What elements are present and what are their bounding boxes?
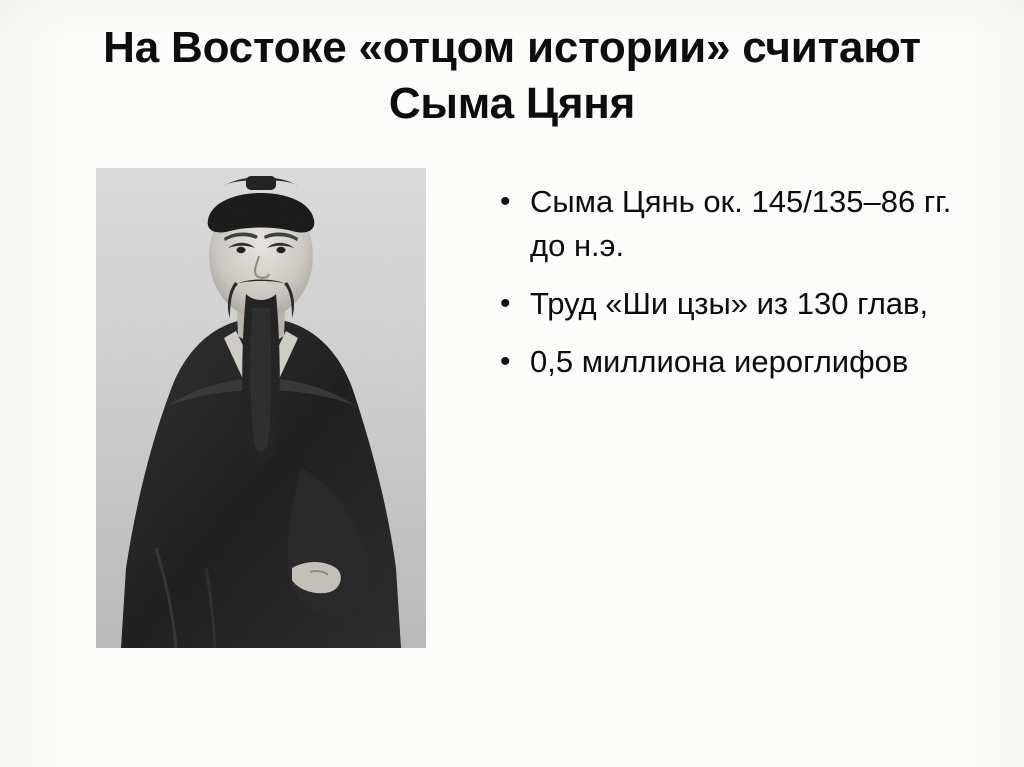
portrait-image: [96, 168, 426, 648]
bullet-text: Сыма Цянь ок. 145/135–86 гг. до н.э.: [530, 180, 980, 268]
slide-canvas: На Востоке «отцом истории» считают Сыма …: [0, 0, 1024, 767]
bullet-dot-icon: •: [500, 282, 530, 326]
bullet-text: Труд «Ши цзы» из 130 глав,: [530, 282, 928, 326]
list-item: • 0,5 миллиона иероглифов: [500, 340, 980, 384]
list-item: • Труд «Ши цзы» из 130 глав,: [500, 282, 980, 326]
bullet-text: 0,5 миллиона иероглифов: [530, 340, 908, 384]
list-item: • Сыма Цянь ок. 145/135–86 гг. до н.э.: [500, 180, 980, 268]
bullet-list: • Сыма Цянь ок. 145/135–86 гг. до н.э. •…: [500, 180, 980, 398]
portrait-illustration: [96, 168, 426, 648]
bullet-dot-icon: •: [500, 180, 530, 224]
bullet-dot-icon: •: [500, 340, 530, 384]
slide-title: На Востоке «отцом истории» считают Сыма …: [60, 20, 964, 133]
